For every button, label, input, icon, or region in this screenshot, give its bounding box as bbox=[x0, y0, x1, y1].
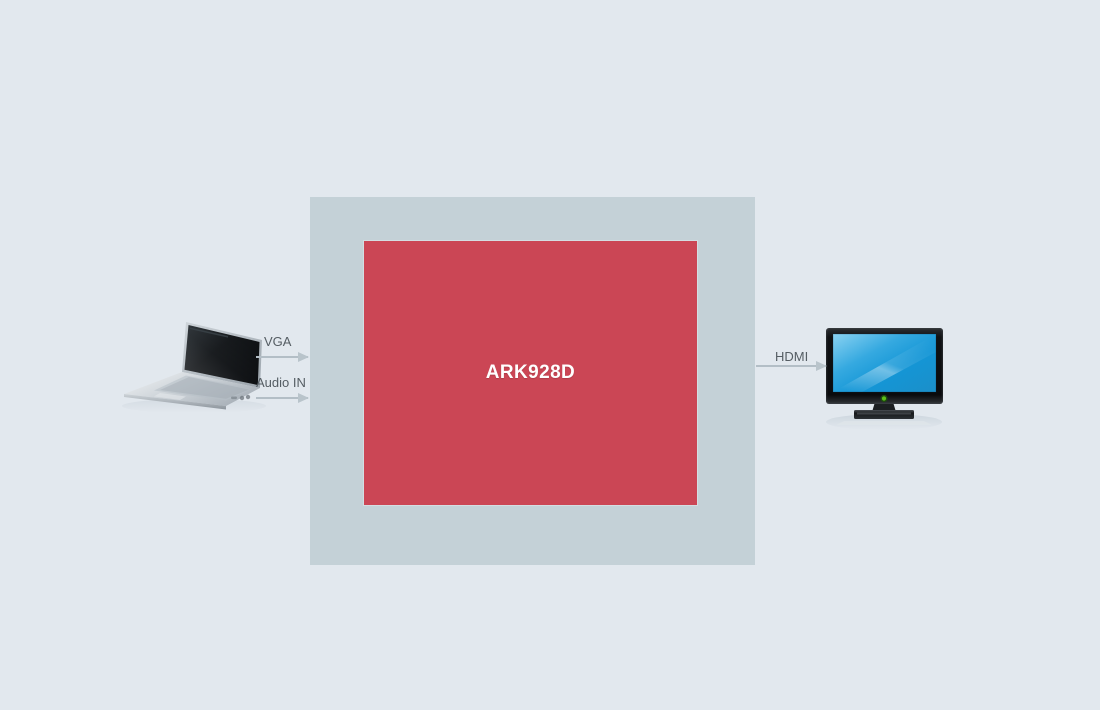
tv-illustration bbox=[822, 326, 947, 431]
arrow-head-icon bbox=[298, 393, 309, 403]
arrow-head-icon bbox=[816, 361, 827, 371]
connection-vga bbox=[256, 356, 308, 358]
laptop-illustration bbox=[110, 310, 275, 415]
connection-label-vga: VGA bbox=[264, 334, 291, 349]
laptop-port-2 bbox=[246, 395, 250, 399]
connection-label-hdmi: HDMI bbox=[775, 349, 808, 364]
arrow-head-icon bbox=[298, 352, 309, 362]
laptop-svg bbox=[110, 310, 275, 415]
tv-stand-highlight bbox=[857, 413, 911, 415]
tv-power-led bbox=[882, 396, 886, 400]
device-body bbox=[364, 241, 697, 505]
tv-stand-foot bbox=[836, 421, 932, 425]
connection-audio-in bbox=[256, 397, 308, 399]
connection-label-audio-in: Audio IN bbox=[256, 375, 306, 390]
diagram-canvas: ARK928D bbox=[0, 0, 1100, 710]
connection-hdmi bbox=[756, 365, 826, 367]
laptop-port-1 bbox=[240, 396, 244, 400]
laptop-port-3 bbox=[231, 397, 237, 400]
tv-svg bbox=[822, 326, 947, 431]
